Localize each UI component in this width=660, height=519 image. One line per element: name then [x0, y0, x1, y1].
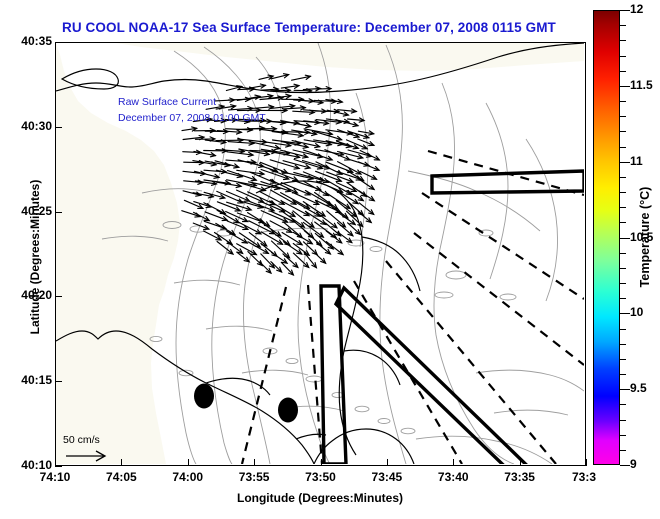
- radar-sector-southeast: [336, 288, 576, 464]
- colorbar-minor-tickmark: [620, 298, 626, 299]
- x-axis-tickmark: [121, 459, 122, 466]
- land-polygon-li: [116, 43, 584, 71]
- y-axis-tick-labels: 40:3540:3040:2540:2040:1540:10: [0, 0, 52, 519]
- map-plot-area[interactable]: Raw Surface Current December 07, 2008 01…: [55, 42, 586, 466]
- x-axis-tick-73-40: 73:40: [426, 470, 480, 484]
- current-vector: [260, 262, 271, 273]
- current-vector: [216, 223, 235, 234]
- current-vector: [360, 172, 376, 180]
- y-axis-tickmark: [55, 212, 62, 213]
- y-axis-tickmark: [55, 466, 62, 467]
- colorbar-minor-tickmark: [620, 374, 626, 375]
- x-axis-tickmark: [254, 459, 255, 466]
- colorbar-minor-tickmark: [620, 329, 626, 330]
- colorbar-tickmark: [620, 10, 630, 11]
- colorbar-tickmark: [620, 162, 630, 163]
- colorbar-minor-tickmark: [620, 25, 626, 26]
- current-vector: [358, 162, 379, 170]
- colorbar-minor-tickmark: [620, 147, 626, 148]
- current-vector: [316, 89, 331, 90]
- current-vector: [294, 90, 311, 91]
- current-vector: [360, 151, 379, 161]
- x-axis-tick-74-05: 74:05: [94, 470, 148, 484]
- radial-dashed-3: [414, 233, 584, 365]
- radar-station-marker-layer: [194, 384, 298, 423]
- colorbar-minor-tickmark: [620, 116, 626, 117]
- current-vector: [227, 191, 250, 201]
- x-axis-tick-73-3: 73:3: [572, 470, 612, 484]
- colorbar-minor-tickmark: [620, 192, 626, 193]
- radar-station-marker-1: [194, 384, 214, 409]
- colorbar-minor-tickmark: [620, 131, 626, 132]
- radial-dashed-2: [422, 193, 584, 299]
- colorbar-minor-tickmark: [620, 71, 626, 72]
- colorbar-minor-tickmark: [620, 359, 626, 360]
- colorbar-tick-label: 11.5: [630, 78, 653, 92]
- colorbar-minor-tickmark: [620, 222, 626, 223]
- colorbar-minor-tickmark: [620, 40, 626, 41]
- x-axis-tickmark: [55, 459, 56, 466]
- current-vector: [359, 203, 373, 215]
- x-axis-tick-73-35: 73:35: [493, 470, 547, 484]
- colorbar-tickmark: [620, 238, 630, 239]
- y-axis-tick-40-35: 40:35: [6, 34, 52, 48]
- x-axis-tick-74-10: 74:10: [28, 470, 82, 484]
- x-axis-tickmark: [453, 459, 454, 466]
- y-axis-tickmark: [55, 296, 62, 297]
- colorbar-minor-tickmark: [620, 268, 626, 269]
- y-axis-tickmark: [55, 42, 62, 43]
- colorbar-minor-tickmark: [620, 283, 626, 284]
- annotation-line-1: Raw Surface Current: [118, 96, 216, 108]
- x-axis-tickmark: [586, 459, 587, 466]
- x-axis-label: Longitude (Degrees:Minutes): [170, 491, 470, 505]
- colorbar-minor-tickmark: [620, 344, 626, 345]
- colorbar-tickmark: [620, 465, 630, 466]
- current-vector: [326, 193, 350, 209]
- y-axis-label: Latitude (Degrees:Minutes): [28, 127, 42, 387]
- colorbar-minor-tickmark: [620, 450, 626, 451]
- current-vector: [315, 233, 333, 249]
- current-vector: [281, 262, 293, 275]
- colorbar-minor-tickmark: [620, 435, 626, 436]
- current-vector: [293, 111, 315, 112]
- colorbar-tickmark: [620, 86, 630, 87]
- x-axis-tickmark: [188, 459, 189, 466]
- radar-sector-vertical: [321, 286, 346, 464]
- current-vector: [303, 222, 323, 237]
- x-axis-tickmark: [387, 459, 388, 466]
- colorbar-tick-label: 9.5: [630, 381, 647, 395]
- radar-sector-layer: [321, 171, 584, 464]
- page-title: RU COOL NOAA-17 Sea Surface Temperature:…: [62, 20, 582, 35]
- y-axis-tickmark: [55, 127, 62, 128]
- current-vector: [248, 213, 270, 227]
- x-axis-tickmark: [321, 459, 322, 466]
- colorbar-minor-tickmark: [620, 253, 626, 254]
- annotation-line-2: December 07, 2008 01:00 GMT: [118, 112, 266, 124]
- colorbar-minor-tickmark: [620, 420, 626, 421]
- current-vector: [237, 110, 260, 111]
- x-axis-tick-74-00: 74:00: [161, 470, 215, 484]
- colorbar-minor-tickmark: [620, 177, 626, 178]
- x-axis-tickmark: [520, 459, 521, 466]
- y-axis-tickmark: [55, 381, 62, 382]
- x-axis-tick-73-55: 73:55: [227, 470, 281, 484]
- current-vector: [237, 221, 261, 233]
- colorbar-label: Temperature (°C): [638, 157, 652, 317]
- current-vector: [327, 211, 346, 227]
- x-axis-tick-73-45: 73:45: [360, 470, 414, 484]
- bathymetry-blobs: [150, 222, 525, 465]
- colorbar-tick-label: 12: [630, 2, 643, 16]
- colorbar-tickmark: [620, 313, 630, 314]
- x-axis-tick-73-50: 73:50: [294, 470, 348, 484]
- colorbar-minor-tickmark: [620, 404, 626, 405]
- colorbar-minor-tickmark: [620, 56, 626, 57]
- colorbar-minor-tickmark: [620, 101, 626, 102]
- scale-legend-label: 50 cm/s: [63, 434, 100, 446]
- colorbar[interactable]: [593, 10, 620, 465]
- colorbar-minor-tickmark: [620, 207, 626, 208]
- colorbar-tick-label: 9: [630, 457, 637, 471]
- radar-station-marker-2: [278, 398, 298, 423]
- colorbar-tickmark: [620, 389, 630, 390]
